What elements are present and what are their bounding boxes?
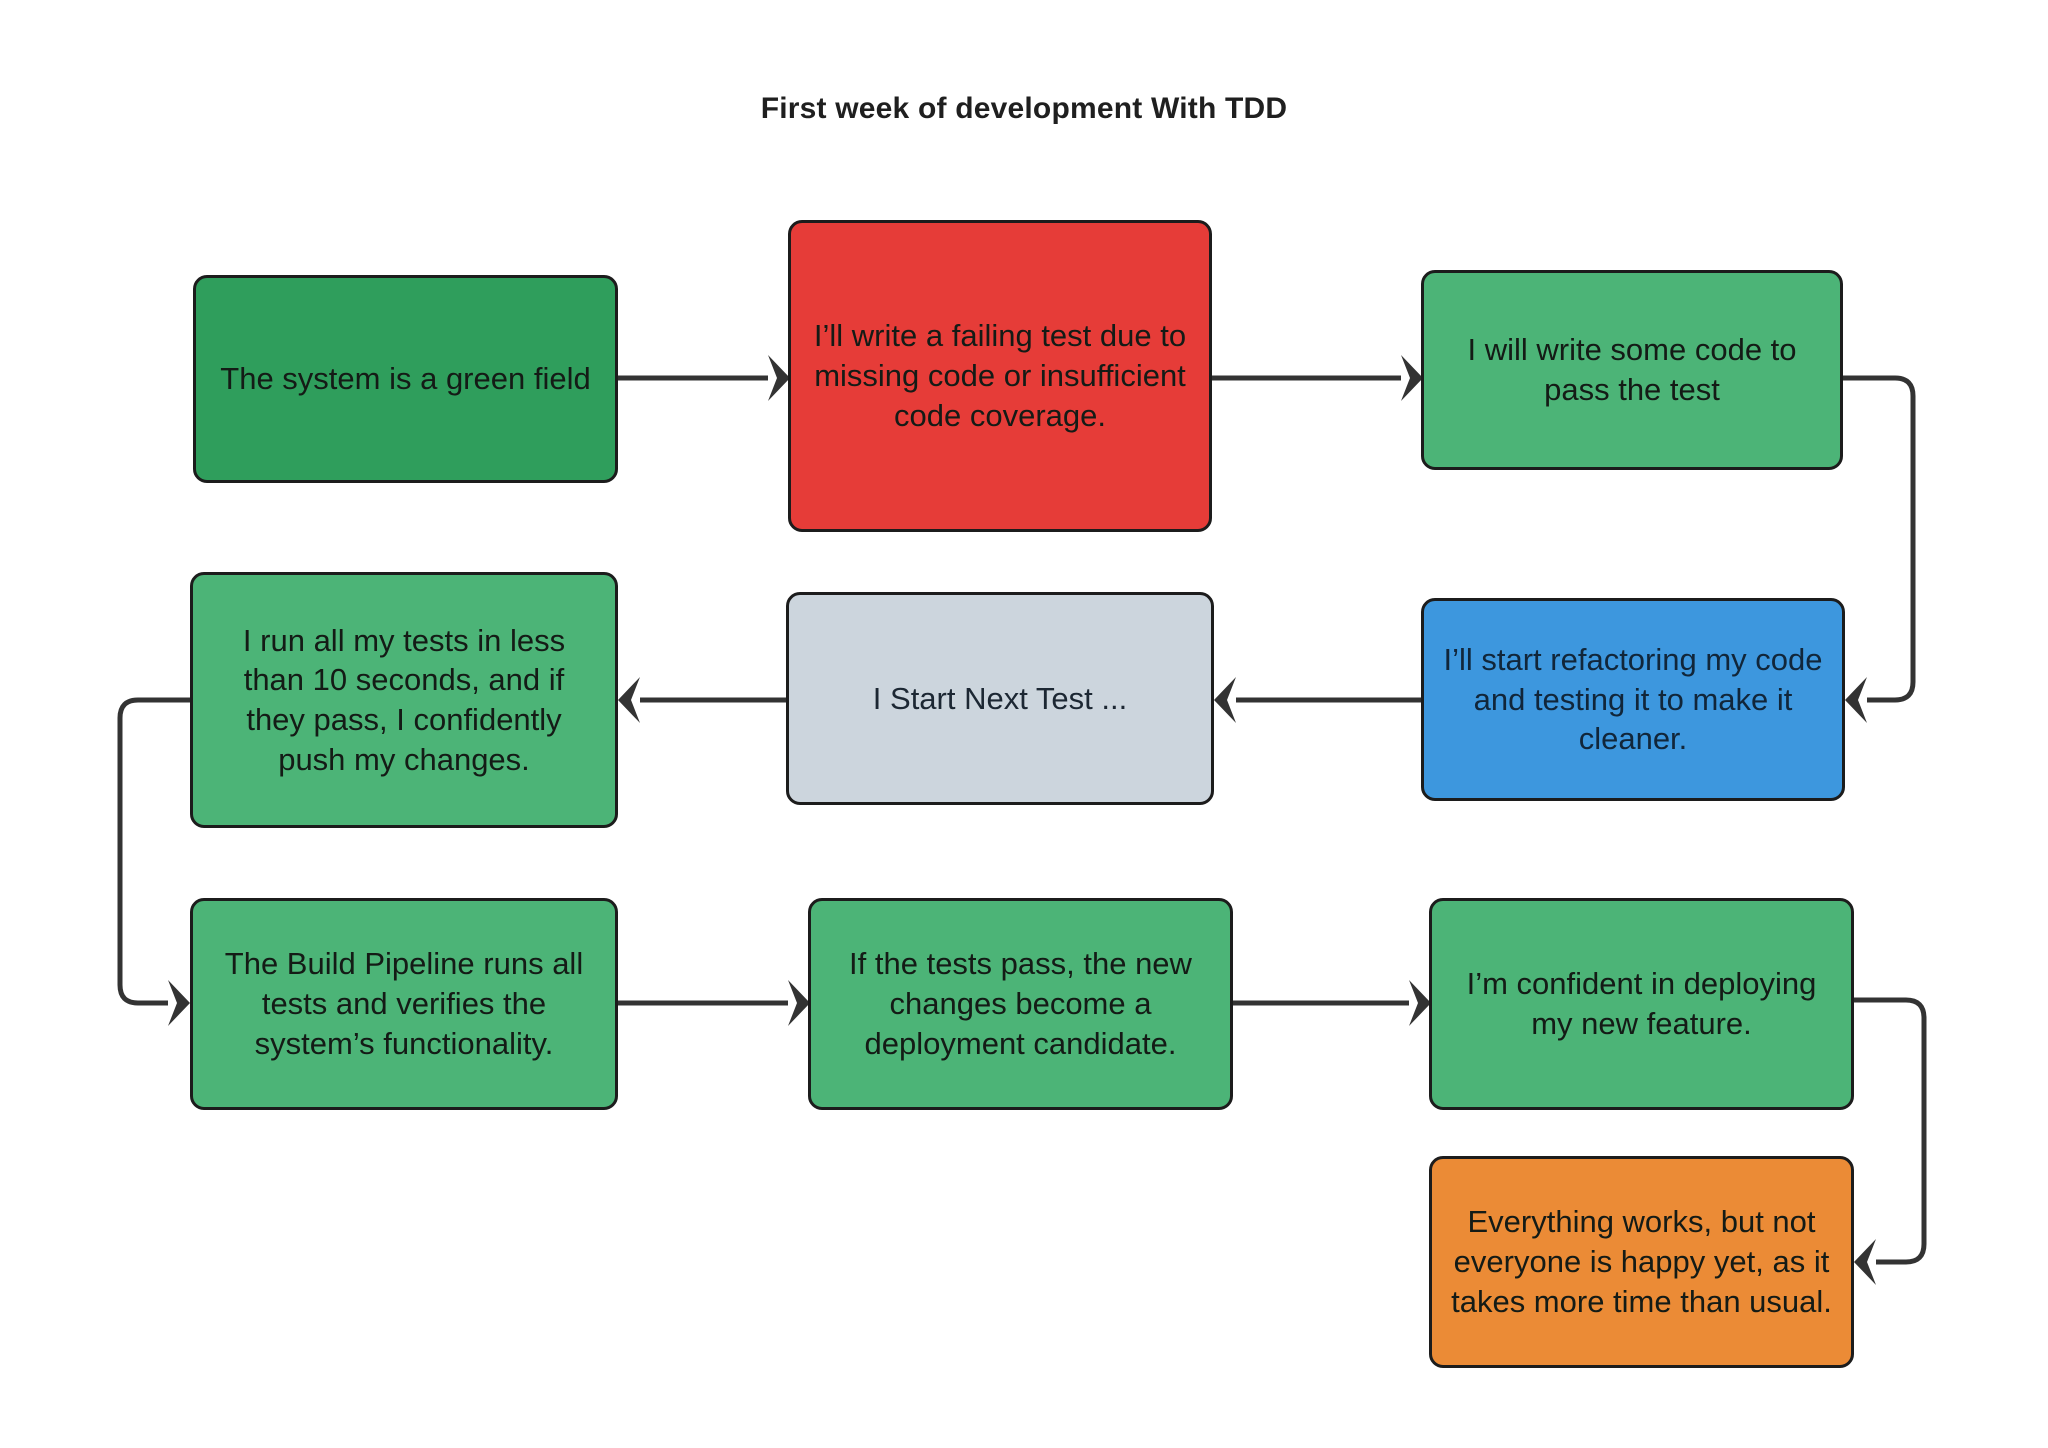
flow-node-label: I’ll start refactoring my code and testi… xyxy=(1442,640,1824,759)
edge-line xyxy=(1854,1000,1924,1262)
flow-node-confident-deploy[interactable]: I’m confident in deploying my new featur… xyxy=(1429,898,1854,1110)
flow-node-label: I’m confident in deploying my new featur… xyxy=(1450,964,1833,1043)
flow-node-label: I’ll write a failing test due to missing… xyxy=(809,316,1191,435)
edge-deployment-candidate-to-confident-deploy xyxy=(1233,980,1431,1026)
arrowhead-icon xyxy=(768,355,790,401)
edge-run-tests-to-build-pipeline xyxy=(120,700,190,1026)
flow-node-label: I Start Next Test ... xyxy=(807,679,1193,719)
edge-refactor-to-next-test xyxy=(1214,677,1421,723)
flow-node-label: If the tests pass, the new changes becom… xyxy=(829,944,1212,1063)
arrowhead-icon xyxy=(1214,677,1236,723)
arrowhead-icon xyxy=(618,677,640,723)
flow-node-label: The system is a green field xyxy=(214,359,597,399)
edge-confident-deploy-to-not-everyone-happy xyxy=(1854,1000,1924,1285)
edge-line xyxy=(120,700,190,1003)
flow-node-label: The Build Pipeline runs all tests and ve… xyxy=(211,944,597,1063)
arrowhead-icon xyxy=(1401,355,1423,401)
flow-node-failing-test[interactable]: I’ll write a failing test due to missing… xyxy=(788,220,1212,532)
edge-write-code-to-refactor xyxy=(1843,378,1913,723)
edge-green-field-to-failing-test xyxy=(618,355,790,401)
flow-node-run-tests[interactable]: I run all my tests in less than 10 secon… xyxy=(190,572,618,828)
flow-node-deployment-candidate[interactable]: If the tests pass, the new changes becom… xyxy=(808,898,1233,1110)
arrowhead-icon xyxy=(1409,980,1431,1026)
arrowhead-icon xyxy=(1845,677,1867,723)
flow-node-not-everyone-happy[interactable]: Everything works, but not everyone is ha… xyxy=(1429,1156,1854,1368)
edge-line xyxy=(1843,378,1913,700)
arrowhead-icon xyxy=(1854,1239,1876,1285)
edge-failing-test-to-write-code xyxy=(1212,355,1423,401)
flow-node-refactor[interactable]: I’ll start refactoring my code and testi… xyxy=(1421,598,1845,801)
arrowhead-icon xyxy=(788,980,810,1026)
edge-build-pipeline-to-deployment-candidate xyxy=(618,980,810,1026)
flow-node-label: Everything works, but not everyone is ha… xyxy=(1450,1202,1833,1321)
flow-node-build-pipeline[interactable]: The Build Pipeline runs all tests and ve… xyxy=(190,898,618,1110)
edge-next-test-to-run-tests xyxy=(618,677,786,723)
flow-node-next-test[interactable]: I Start Next Test ... xyxy=(786,592,1214,805)
flow-node-write-code[interactable]: I will write some code to pass the test xyxy=(1421,270,1843,470)
arrowhead-icon xyxy=(168,980,190,1026)
flowchart-canvas: First week of development With TDD The s… xyxy=(0,0,2048,1448)
flow-node-green-field[interactable]: The system is a green field xyxy=(193,275,618,483)
flow-node-label: I run all my tests in less than 10 secon… xyxy=(211,621,597,780)
flow-node-label: I will write some code to pass the test xyxy=(1442,330,1822,409)
